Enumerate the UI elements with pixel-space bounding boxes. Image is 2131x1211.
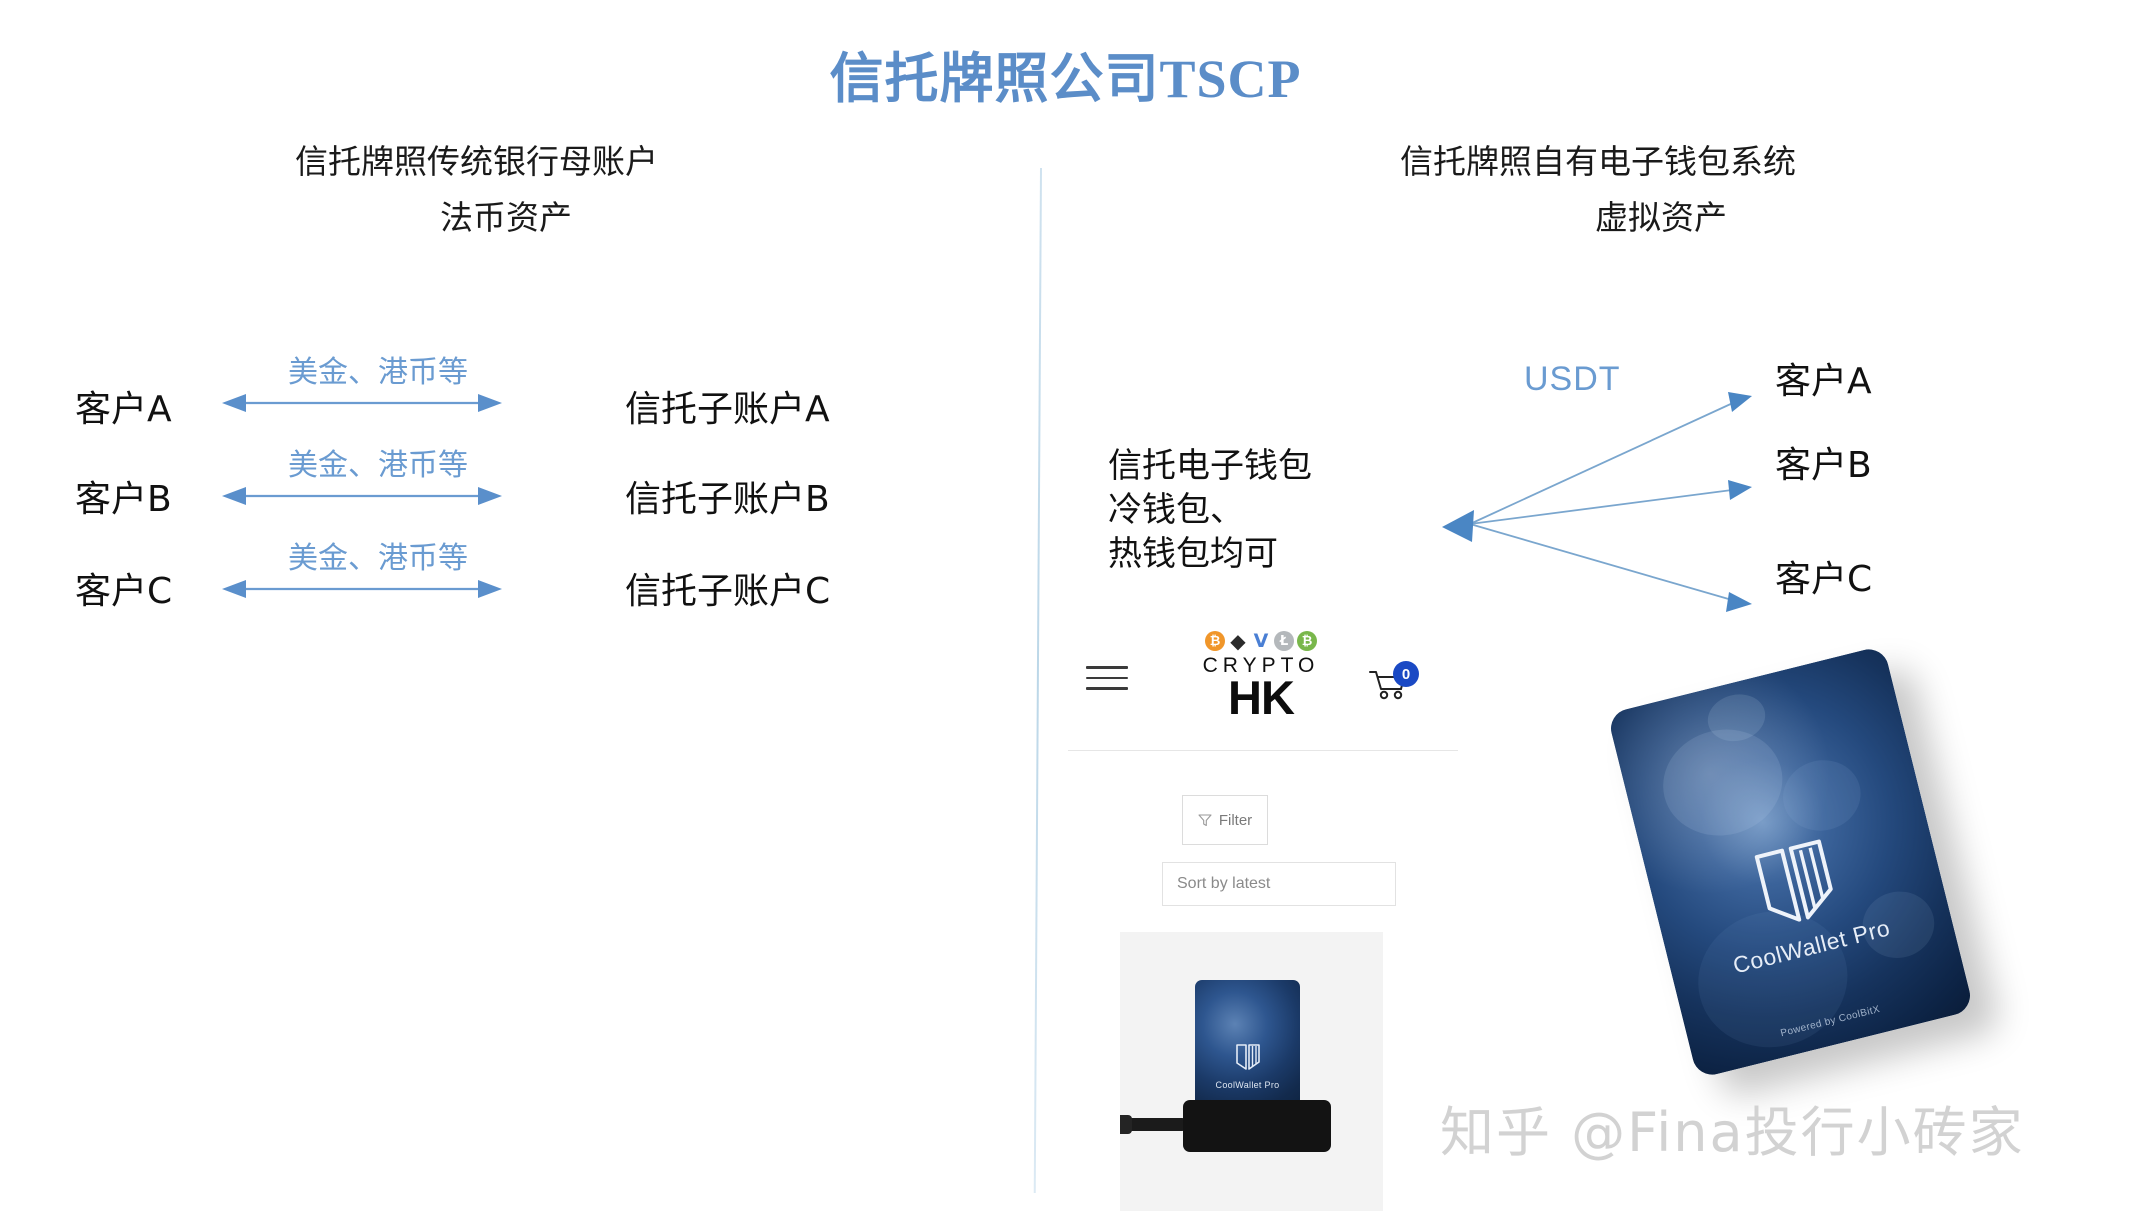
cart-count-badge: 0 [1393,661,1419,687]
product-thumbnail[interactable]: CoolWallet Pro [1120,932,1383,1211]
funnel-icon [1198,813,1212,827]
slide-canvas: 信托牌照公司TSCP 信托牌照传统银行母账户 法币资产 客户A 美金、港币等 信… [0,0,2131,1211]
right-panel-heading: 信托牌照自有电子钱包系统 [1400,135,1796,183]
coolwallet-pro-card: CoolWallet Pro Powered by CoolBitX [1607,645,1974,1079]
wallet-line-1: 信托电子钱包 [1108,444,1312,488]
moon-texture [1776,752,1869,839]
right-customer-a: 客户A [1775,352,1872,404]
left-panel-subheading: 法币资产 [440,191,572,239]
right-panel-subheading: 虚拟资产 [1595,191,1727,239]
shopping-cart-icon[interactable]: 0 [1368,668,1420,708]
bitcoin-icon: ₿ [1205,631,1225,651]
coolwallet-shield-icon [1235,1042,1261,1072]
left-double-arrow-a [222,392,502,414]
usb-plug [1120,1115,1132,1134]
left-customer-c: 客户C [75,562,172,614]
vertical-divider [1034,168,1042,1193]
hamburger-menu-icon[interactable] [1086,666,1128,692]
left-flow-label-b: 美金、港币等 [288,440,468,484]
crypto-hk-logo: ₿ ◆ V Ł ₿ CRYPTO HK [1176,630,1346,721]
wallet-line-2: 冷钱包、 [1108,488,1312,532]
left-customer-b: 客户B [75,470,172,522]
product-card-name: CoolWallet Pro [1195,1080,1300,1090]
bitcoin-cash-icon: ₿ [1297,631,1317,651]
filter-button[interactable]: Filter [1182,795,1268,845]
filter-label: Filter [1219,812,1252,829]
right-customer-b: 客户B [1775,436,1872,488]
left-subaccount-c: 信托子账户C [625,562,830,614]
charging-dock [1183,1100,1331,1152]
page-title: 信托牌照公司TSCP [0,34,2131,113]
left-subaccount-b: 信托子账户B [625,470,830,522]
trust-wallet-description: 信托电子钱包 冷钱包、 热钱包均可 [1108,444,1312,577]
shop-header-divider [1068,750,1458,751]
vechain-icon: V [1251,631,1271,651]
left-subaccount-a: 信托子账户A [625,380,830,432]
left-flow-label-c: 美金、港币等 [288,533,468,577]
left-flow-label-a: 美金、港币等 [288,347,468,391]
left-double-arrow-b [222,485,502,507]
watermark: 知乎 @Fina投行小砖家 [1440,1088,2025,1167]
wallet-line-3: 热钱包均可 [1108,532,1312,576]
right-customer-c: 客户C [1775,550,1872,602]
litecoin-icon: Ł [1274,631,1294,651]
left-panel-heading: 信托牌照传统银行母账户 [295,135,658,183]
left-double-arrow-c [222,578,502,600]
sort-select-value: Sort by latest [1177,875,1270,893]
ethereum-icon: ◆ [1228,631,1248,651]
coin-icon-row: ₿ ◆ V Ł ₿ [1176,630,1346,652]
left-customer-a: 客户A [75,380,172,432]
sort-select[interactable]: Sort by latest [1162,862,1396,906]
brand-text-hk: HK [1176,676,1346,721]
product-card-image: CoolWallet Pro [1195,980,1300,1110]
crypto-hk-shop-mockup: ₿ ◆ V Ł ₿ CRYPTO HK 0 Filter [1068,630,1458,1211]
